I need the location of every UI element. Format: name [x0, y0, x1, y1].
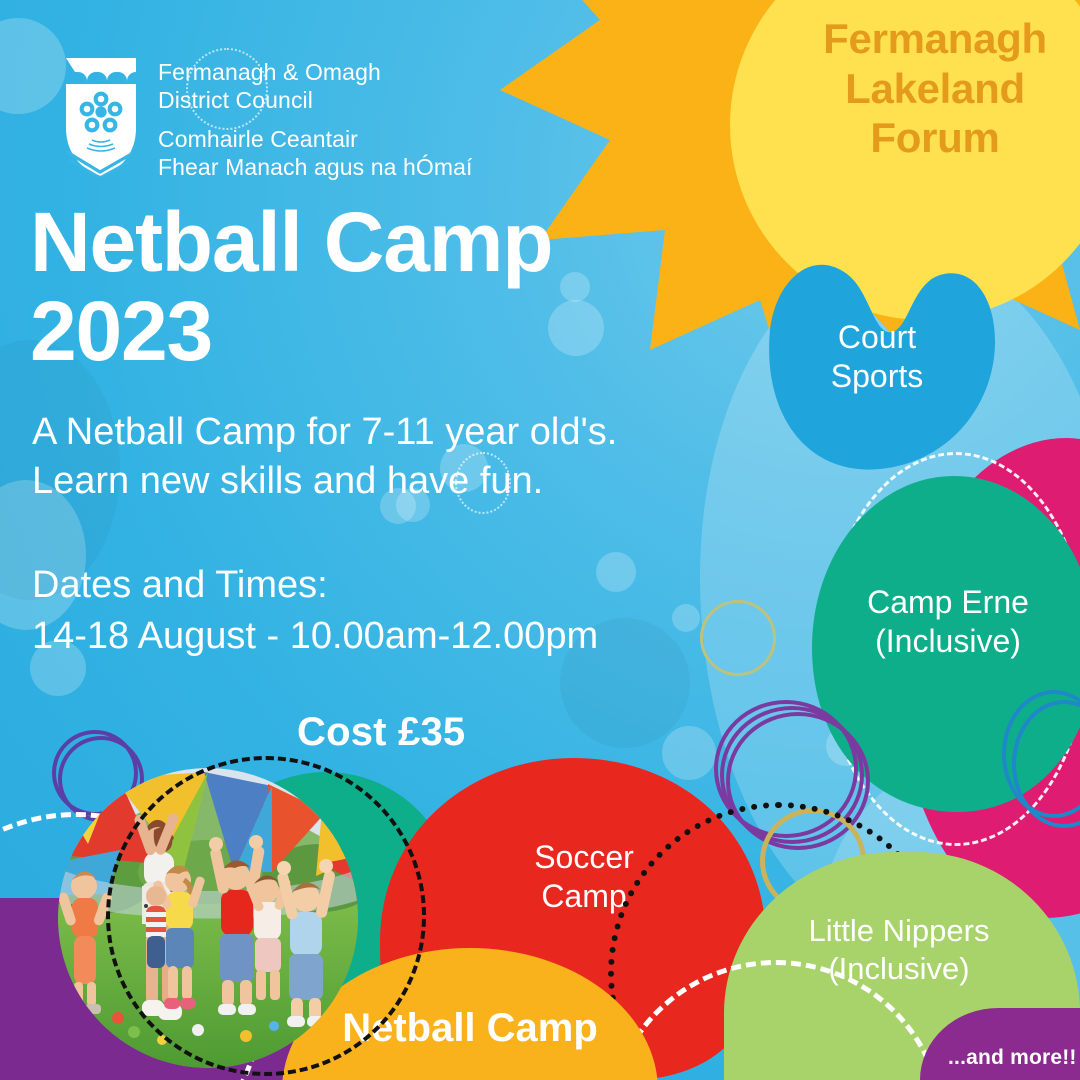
logo-line-4: Fhear Manach agus na hÓmaí	[158, 153, 473, 181]
logo-spacer	[158, 115, 473, 125]
poster-canvas: Fermanagh Lakeland Forum Court Sports Ca…	[0, 0, 1080, 1080]
logo-line-3: Comhairle Ceantair	[158, 125, 473, 153]
bubble-decor	[0, 18, 66, 114]
council-crest-icon	[62, 52, 140, 183]
description-text: A Netball Camp for 7-11 year old's. Lear…	[32, 408, 617, 506]
black-dashed-ring-photo	[106, 756, 426, 1076]
gold-ring-decor	[700, 600, 776, 676]
bubble-decor	[596, 552, 636, 592]
venue-badge-label: Fermanagh Lakeland Forum	[810, 14, 1060, 163]
page-title: Netball Camp 2023	[30, 198, 552, 376]
cost-text: Cost £35	[297, 710, 465, 755]
blob-court-sports	[752, 240, 1002, 475]
logo-line-1: Fermanagh & Omagh	[158, 58, 473, 86]
council-logo: Fermanagh & Omagh District Council Comha…	[62, 52, 473, 183]
logo-line-2: District Council	[158, 86, 473, 114]
schedule-text: Dates and Times: 14-18 August - 10.00am-…	[32, 560, 598, 661]
blob-label-and-more: ...and more!!	[948, 1046, 1077, 1070]
bubble-decor	[672, 604, 700, 632]
